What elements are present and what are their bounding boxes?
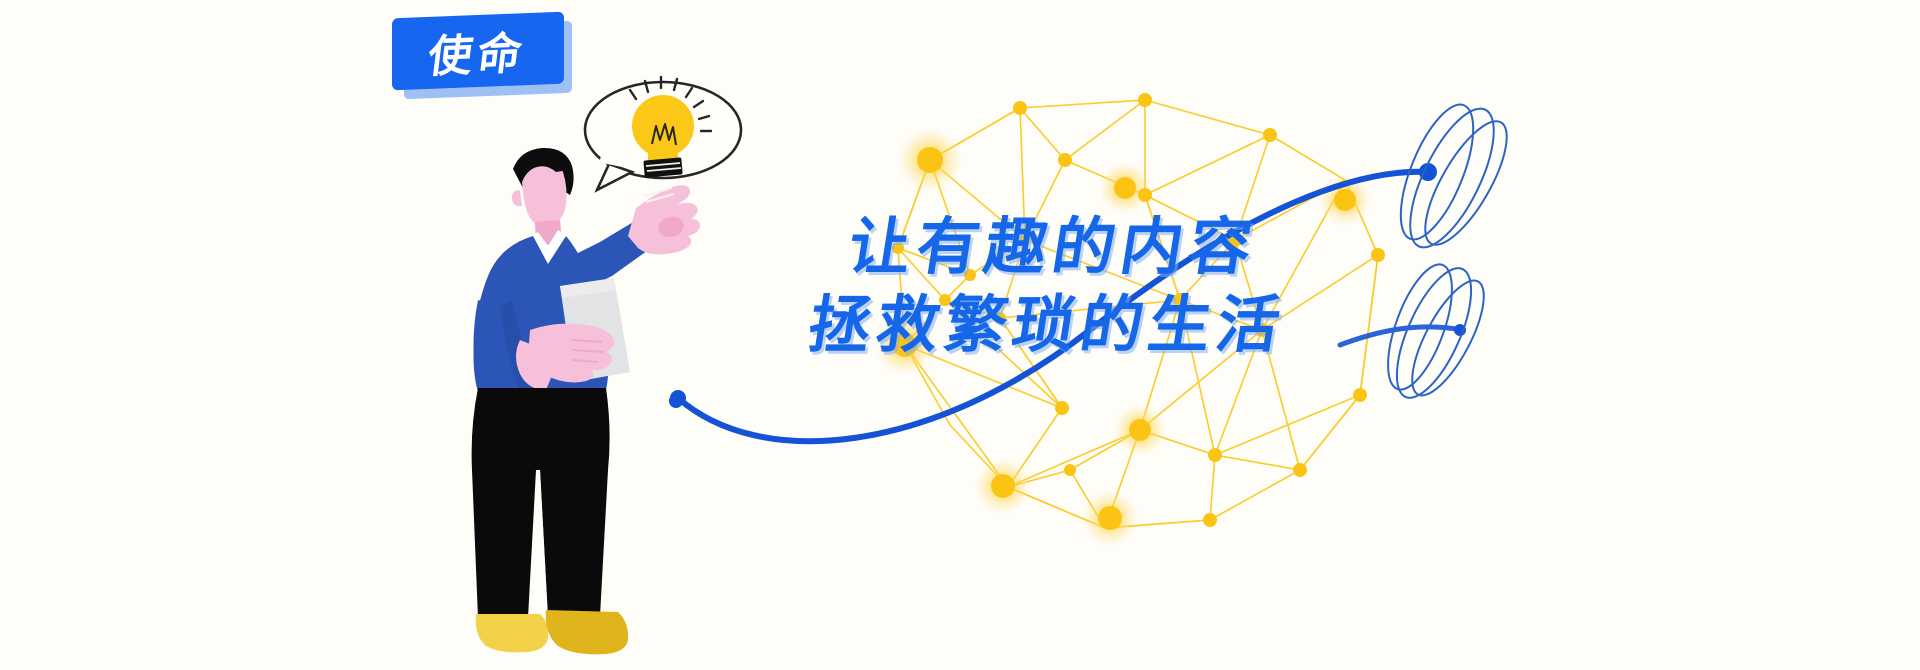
headline-line-1: 让有趣的内容	[843, 196, 1265, 286]
blue-accent-dot	[669, 394, 683, 408]
headline-line-2: 拯救繁琐的生活	[803, 274, 1293, 364]
mission-badge-label: 使命	[392, 12, 564, 91]
mission-badge: 使命	[392, 10, 582, 105]
mission-badge-text: 使命	[425, 17, 531, 85]
headline: 让有趣的内容 拯救繁琐的生活	[810, 196, 1450, 376]
mission-banner: 使命 让有趣的内容 拯救繁琐的生活	[0, 0, 1920, 670]
